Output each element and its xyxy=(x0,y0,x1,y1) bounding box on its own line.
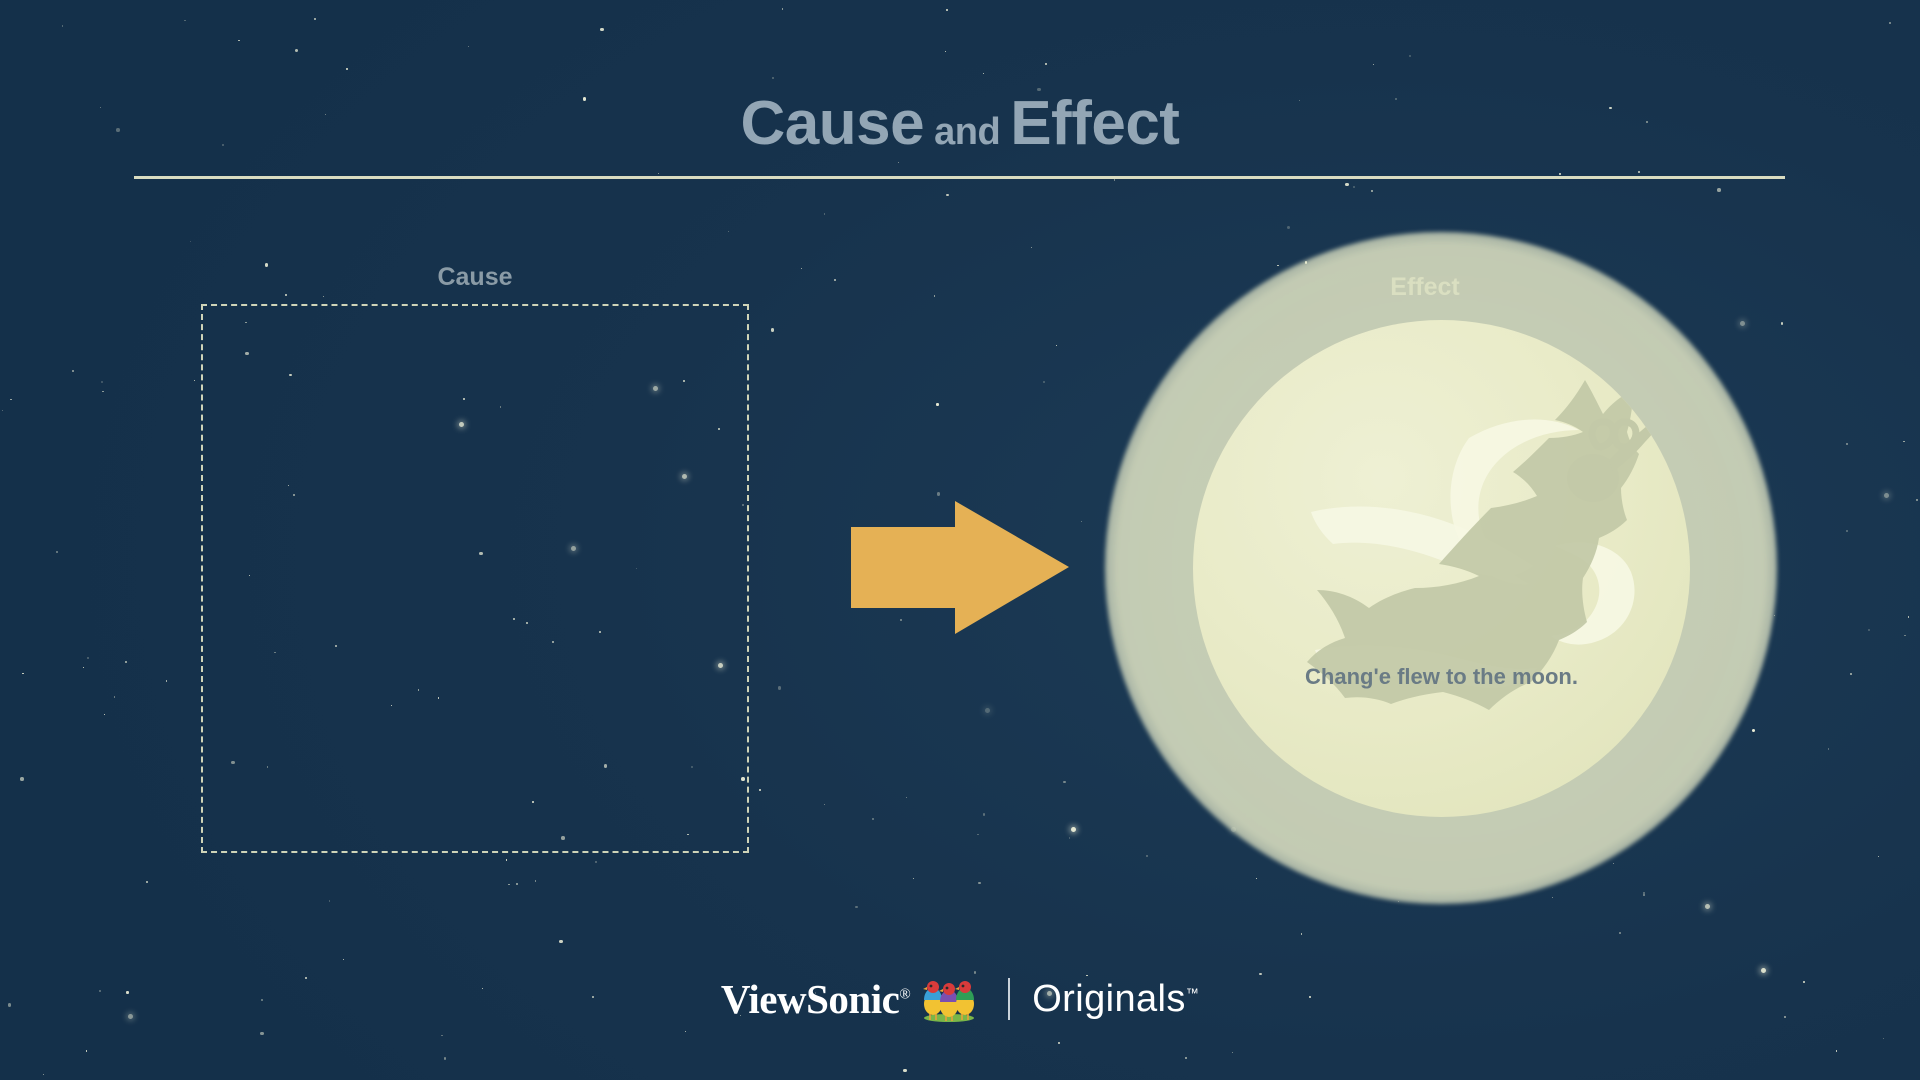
star xyxy=(974,971,976,973)
star xyxy=(658,173,659,174)
star xyxy=(977,834,978,835)
registered-mark: ® xyxy=(899,986,910,1002)
star xyxy=(1613,863,1614,864)
star xyxy=(600,28,604,32)
star xyxy=(86,1050,87,1051)
cause-section-label: Cause xyxy=(420,263,530,292)
star xyxy=(1883,1038,1884,1039)
star xyxy=(146,881,148,883)
star xyxy=(855,906,857,908)
star xyxy=(295,49,299,53)
star xyxy=(1287,226,1291,230)
star xyxy=(983,73,984,74)
star xyxy=(104,714,105,715)
star xyxy=(1705,904,1710,909)
title-word-effect: Effect xyxy=(1010,88,1179,159)
star xyxy=(329,900,330,901)
star xyxy=(468,46,469,47)
star xyxy=(1828,748,1829,749)
star xyxy=(1717,188,1721,192)
effect-caption-text: Chang'e flew to the moon. xyxy=(1193,664,1690,690)
star xyxy=(1836,1050,1837,1051)
star xyxy=(872,818,874,820)
star xyxy=(937,492,941,496)
star xyxy=(506,859,507,860)
star xyxy=(936,403,938,405)
star xyxy=(125,661,127,663)
star xyxy=(516,883,518,885)
star xyxy=(260,1032,264,1036)
right-arrow-icon xyxy=(851,501,1069,634)
star xyxy=(1058,1042,1059,1043)
star xyxy=(508,884,509,885)
star xyxy=(114,696,115,697)
star xyxy=(1232,1052,1233,1053)
star xyxy=(238,40,239,41)
star xyxy=(2,410,3,411)
three-gouldian-finches-icon xyxy=(918,976,980,1022)
star xyxy=(72,370,74,372)
star xyxy=(1889,22,1891,24)
star xyxy=(22,673,23,674)
star xyxy=(1868,629,1870,631)
star xyxy=(62,25,63,26)
viewsonic-name: ViewSonic xyxy=(721,976,899,1022)
star xyxy=(824,213,825,214)
star xyxy=(1846,443,1847,444)
star xyxy=(101,381,103,383)
star xyxy=(1552,897,1553,898)
star xyxy=(87,657,89,659)
originals-name: Originals xyxy=(1032,978,1186,1020)
star xyxy=(314,18,316,20)
star xyxy=(194,380,195,381)
cause-dropzone[interactable] xyxy=(201,304,749,853)
star xyxy=(1056,345,1057,346)
star xyxy=(1559,173,1560,174)
trademark-mark: ™ xyxy=(1186,985,1199,1000)
star xyxy=(1846,530,1848,532)
star xyxy=(1277,265,1278,266)
star xyxy=(1916,499,1917,500)
star xyxy=(1114,179,1115,180)
star xyxy=(906,797,907,798)
star xyxy=(1371,190,1372,191)
star xyxy=(184,20,185,21)
star xyxy=(946,194,948,196)
star xyxy=(759,789,761,791)
viewsonic-wordmark: ViewSonic® xyxy=(721,975,910,1023)
star xyxy=(1146,855,1147,856)
star xyxy=(1373,64,1374,65)
star xyxy=(782,8,783,9)
star xyxy=(190,241,191,242)
star xyxy=(43,1074,44,1075)
star xyxy=(441,1035,442,1036)
star xyxy=(1185,1057,1187,1059)
page-title: CauseandEffect xyxy=(0,88,1920,159)
star xyxy=(1850,673,1852,675)
star xyxy=(10,399,11,400)
star xyxy=(20,777,24,781)
star xyxy=(265,263,269,267)
footer-branding: ViewSonic® Origin xyxy=(0,975,1920,1023)
star xyxy=(285,294,286,295)
star xyxy=(824,804,825,805)
star xyxy=(1409,55,1411,57)
star xyxy=(903,1069,907,1073)
star xyxy=(83,667,84,668)
star xyxy=(1904,635,1905,636)
star xyxy=(1256,878,1257,879)
star xyxy=(323,296,324,297)
star xyxy=(166,680,167,681)
star xyxy=(685,1031,686,1032)
star xyxy=(946,9,948,11)
slide-canvas: CauseandEffect Cause Effect xyxy=(0,0,1920,1080)
star xyxy=(983,813,985,815)
star xyxy=(978,882,980,884)
star xyxy=(1069,837,1070,838)
logo-divider xyxy=(1008,978,1010,1020)
star xyxy=(1643,892,1645,894)
star xyxy=(1774,615,1775,616)
star xyxy=(1045,63,1046,64)
star xyxy=(1301,933,1302,934)
star xyxy=(595,861,596,862)
star xyxy=(898,162,899,163)
star xyxy=(1031,247,1032,248)
star xyxy=(1063,781,1065,783)
star xyxy=(1638,171,1640,173)
star xyxy=(778,686,782,690)
moon-illustration xyxy=(1193,320,1690,817)
star xyxy=(913,878,914,879)
star xyxy=(728,231,729,232)
star xyxy=(444,1057,446,1059)
star xyxy=(559,940,563,944)
star xyxy=(934,295,935,296)
star xyxy=(1761,968,1766,973)
title-divider-rule xyxy=(134,176,1785,179)
star xyxy=(102,391,103,392)
star xyxy=(1619,932,1621,934)
star xyxy=(346,68,347,69)
star xyxy=(1081,521,1082,522)
star xyxy=(945,51,946,52)
star xyxy=(343,959,344,960)
star xyxy=(1071,827,1076,832)
change-flying-silhouette-icon xyxy=(1193,320,1690,817)
star xyxy=(56,551,58,553)
title-word-cause: Cause xyxy=(741,88,925,159)
star xyxy=(1878,856,1879,857)
star xyxy=(1353,186,1355,188)
star xyxy=(1903,441,1904,442)
originals-wordmark: Originals™ xyxy=(1032,978,1199,1021)
star xyxy=(834,279,836,281)
star xyxy=(985,708,990,713)
star xyxy=(772,77,774,79)
star xyxy=(1908,616,1909,617)
star xyxy=(535,880,536,881)
star xyxy=(1740,321,1745,326)
star xyxy=(1752,729,1756,733)
title-word-and: and xyxy=(924,111,1010,154)
star xyxy=(1884,493,1889,498)
star xyxy=(1643,894,1645,896)
star xyxy=(801,268,802,269)
star xyxy=(1781,322,1783,324)
star xyxy=(1345,183,1349,187)
star xyxy=(771,328,775,332)
star xyxy=(1043,381,1045,383)
